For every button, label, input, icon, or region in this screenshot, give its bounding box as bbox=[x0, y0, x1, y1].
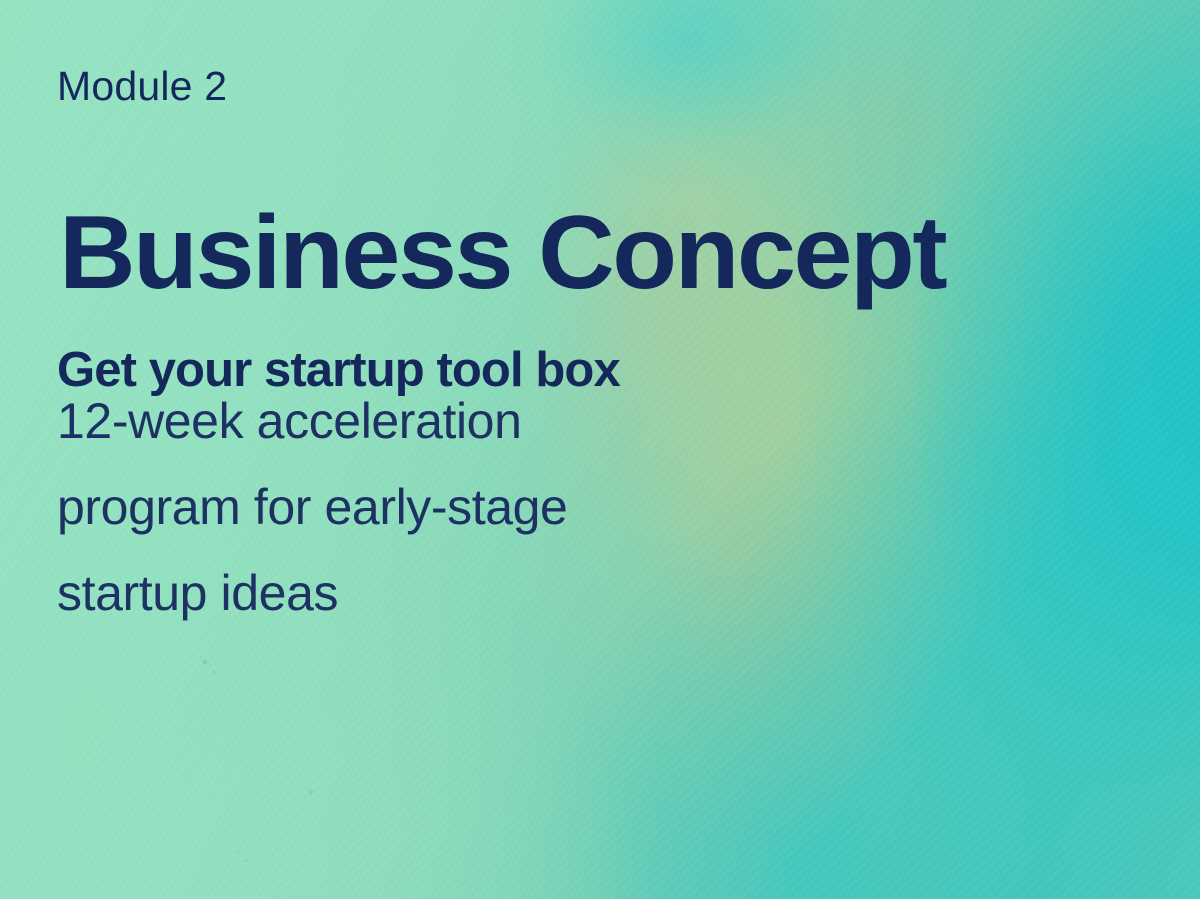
promo-slide: Module 2 Business Concept Get your start… bbox=[0, 0, 1200, 899]
body-line: 12-week acceleration bbox=[57, 378, 567, 464]
module-label: Module 2 bbox=[57, 66, 227, 107]
body-copy: 12-week acceleration program for early-s… bbox=[57, 378, 567, 636]
body-line: program for early-stage bbox=[57, 464, 567, 550]
slide-content: Module 2 Business Concept Get your start… bbox=[57, 0, 1177, 899]
page-title: Business Concept bbox=[59, 198, 945, 308]
body-line: startup ideas bbox=[57, 550, 567, 636]
